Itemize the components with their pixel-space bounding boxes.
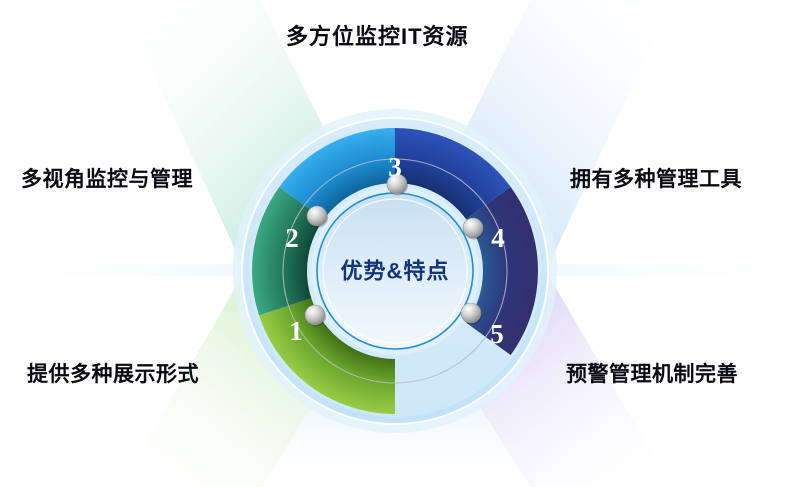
label-right-bottom: 预警管理机制完善 xyxy=(566,364,738,385)
segment-number-5: 5 xyxy=(490,319,504,349)
center-label: 优势&特点 xyxy=(341,259,450,284)
infographic-canvas: 优势&特点 12345 多方位监控IT资源 多视角监控与管理 提供多种展示形式 … xyxy=(0,0,791,487)
donut-wheel: 优势&特点 12345 xyxy=(0,0,791,487)
label-left-top: 多视角监控与管理 xyxy=(21,169,193,190)
segment-number-1: 1 xyxy=(289,316,303,346)
label-right-top: 拥有多种管理工具 xyxy=(570,169,742,190)
label-top: 多方位监控IT资源 xyxy=(286,26,469,48)
segment-number-3: 3 xyxy=(388,152,402,182)
label-left-bottom: 提供多种展示形式 xyxy=(27,364,199,385)
segment-number-4: 4 xyxy=(491,223,505,253)
segment-number-2: 2 xyxy=(285,223,299,253)
